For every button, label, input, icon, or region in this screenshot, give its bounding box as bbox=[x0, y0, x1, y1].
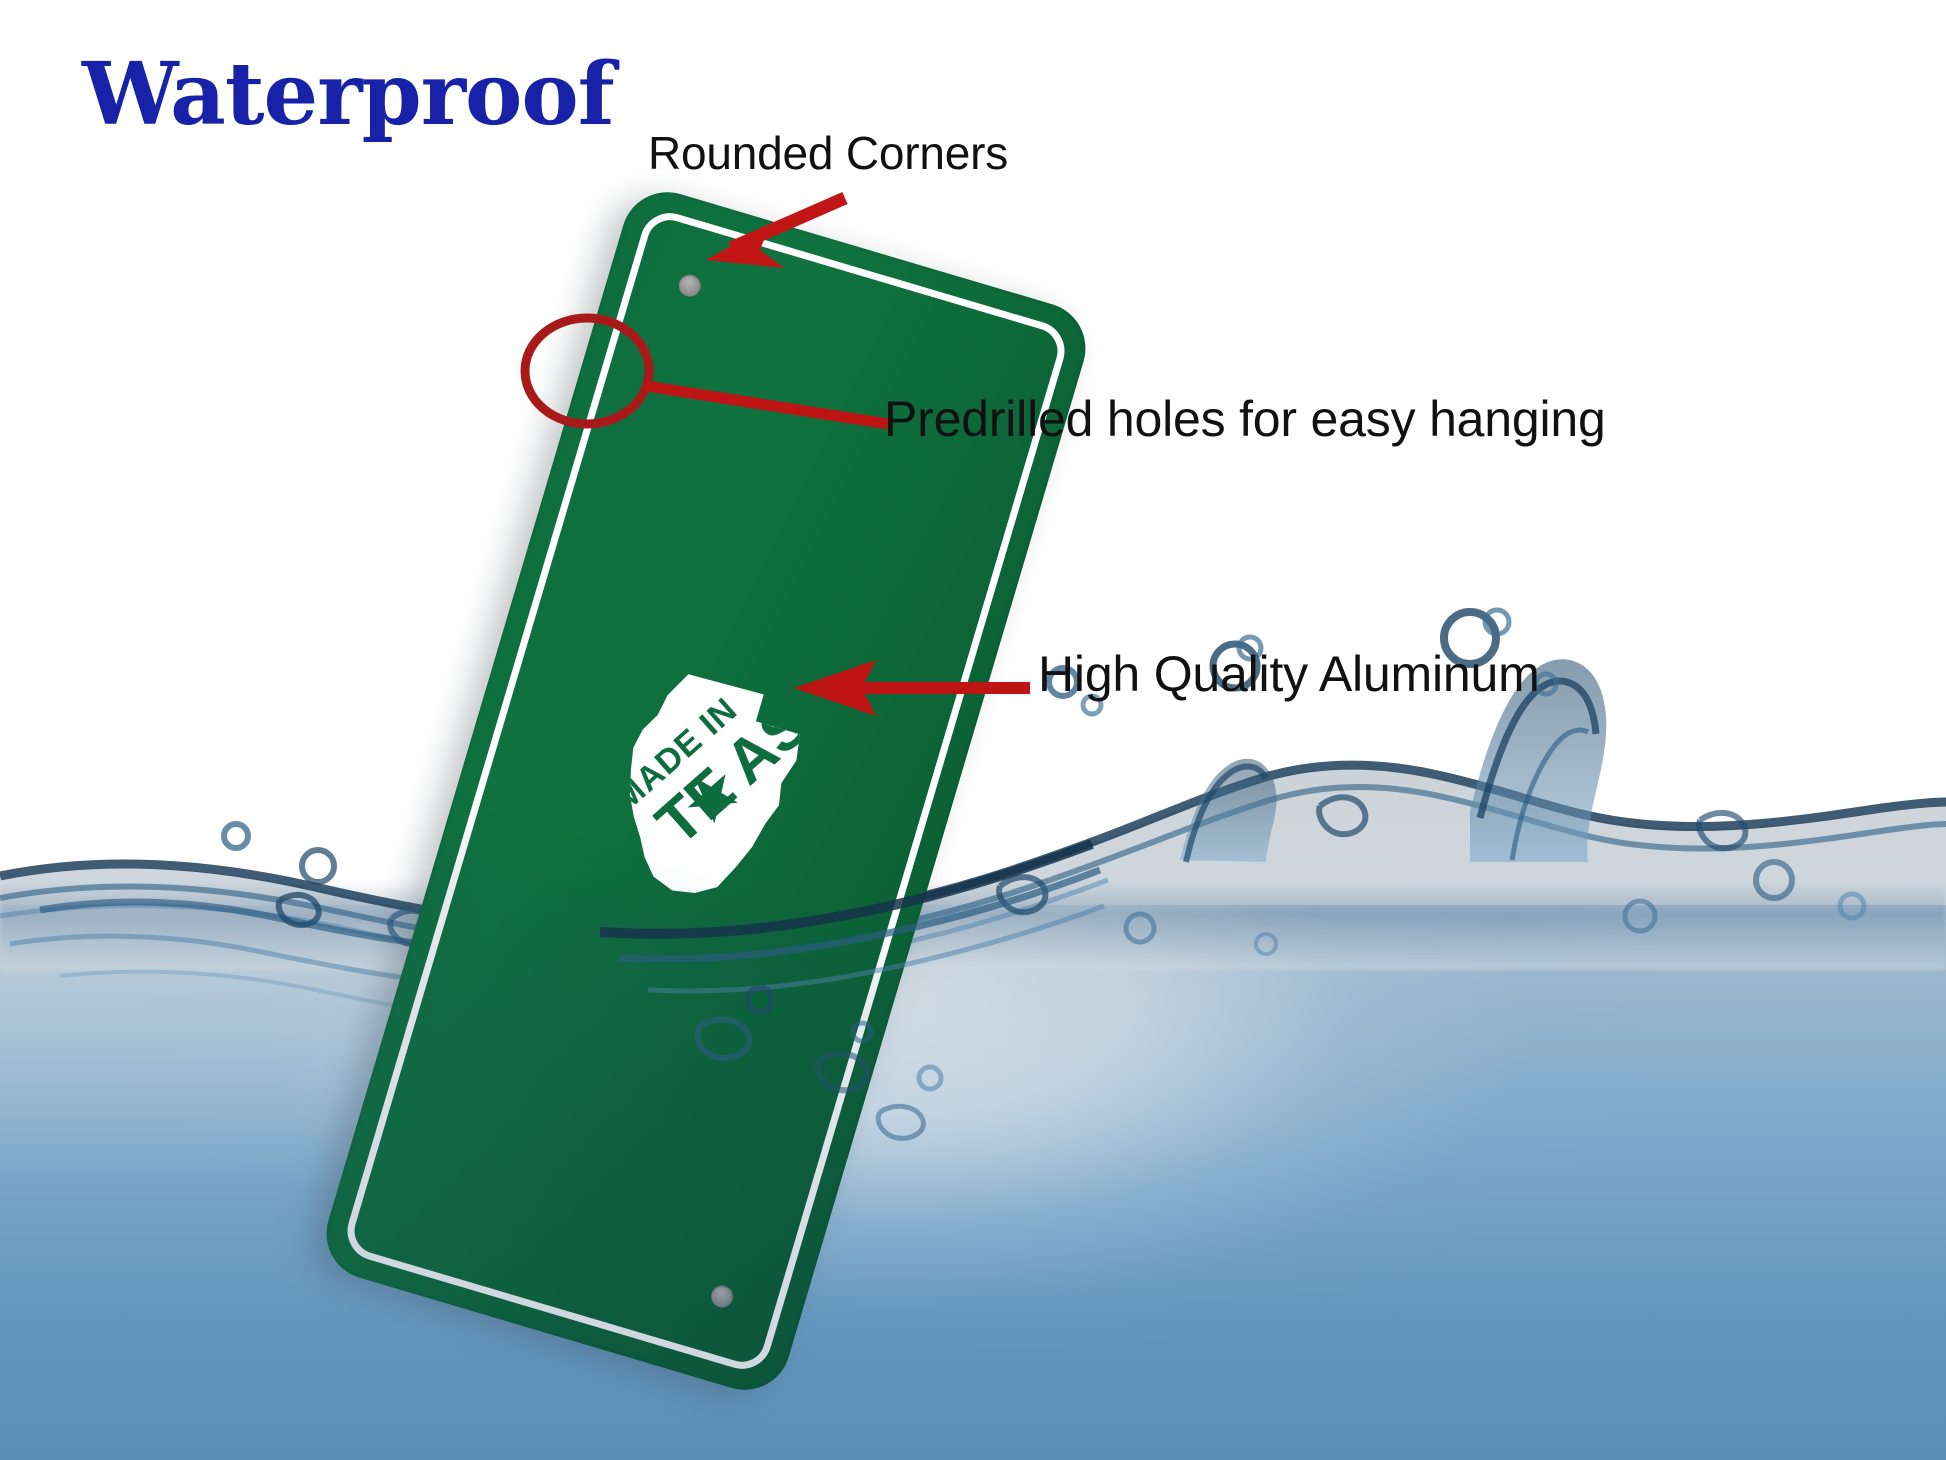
aluminum-sign-blank[interactable]: MADE IN TE ★ AS bbox=[315, 181, 1096, 1401]
annotation-label-rounded-corners: Rounded Corners bbox=[648, 126, 1008, 180]
annotation-label-predrilled-holes: Predrilled holes for easy hanging bbox=[884, 390, 1606, 448]
product-feature-image: MADE IN TE ★ AS bbox=[0, 0, 1946, 1460]
annotation-label-high-quality-aluminum: High Quality Aluminum bbox=[1038, 645, 1540, 703]
sign-layer: MADE IN TE ★ AS bbox=[0, 0, 1946, 1460]
page-title: Waterproof bbox=[82, 44, 614, 145]
sign-face: MADE IN TE ★ AS bbox=[315, 181, 1096, 1401]
